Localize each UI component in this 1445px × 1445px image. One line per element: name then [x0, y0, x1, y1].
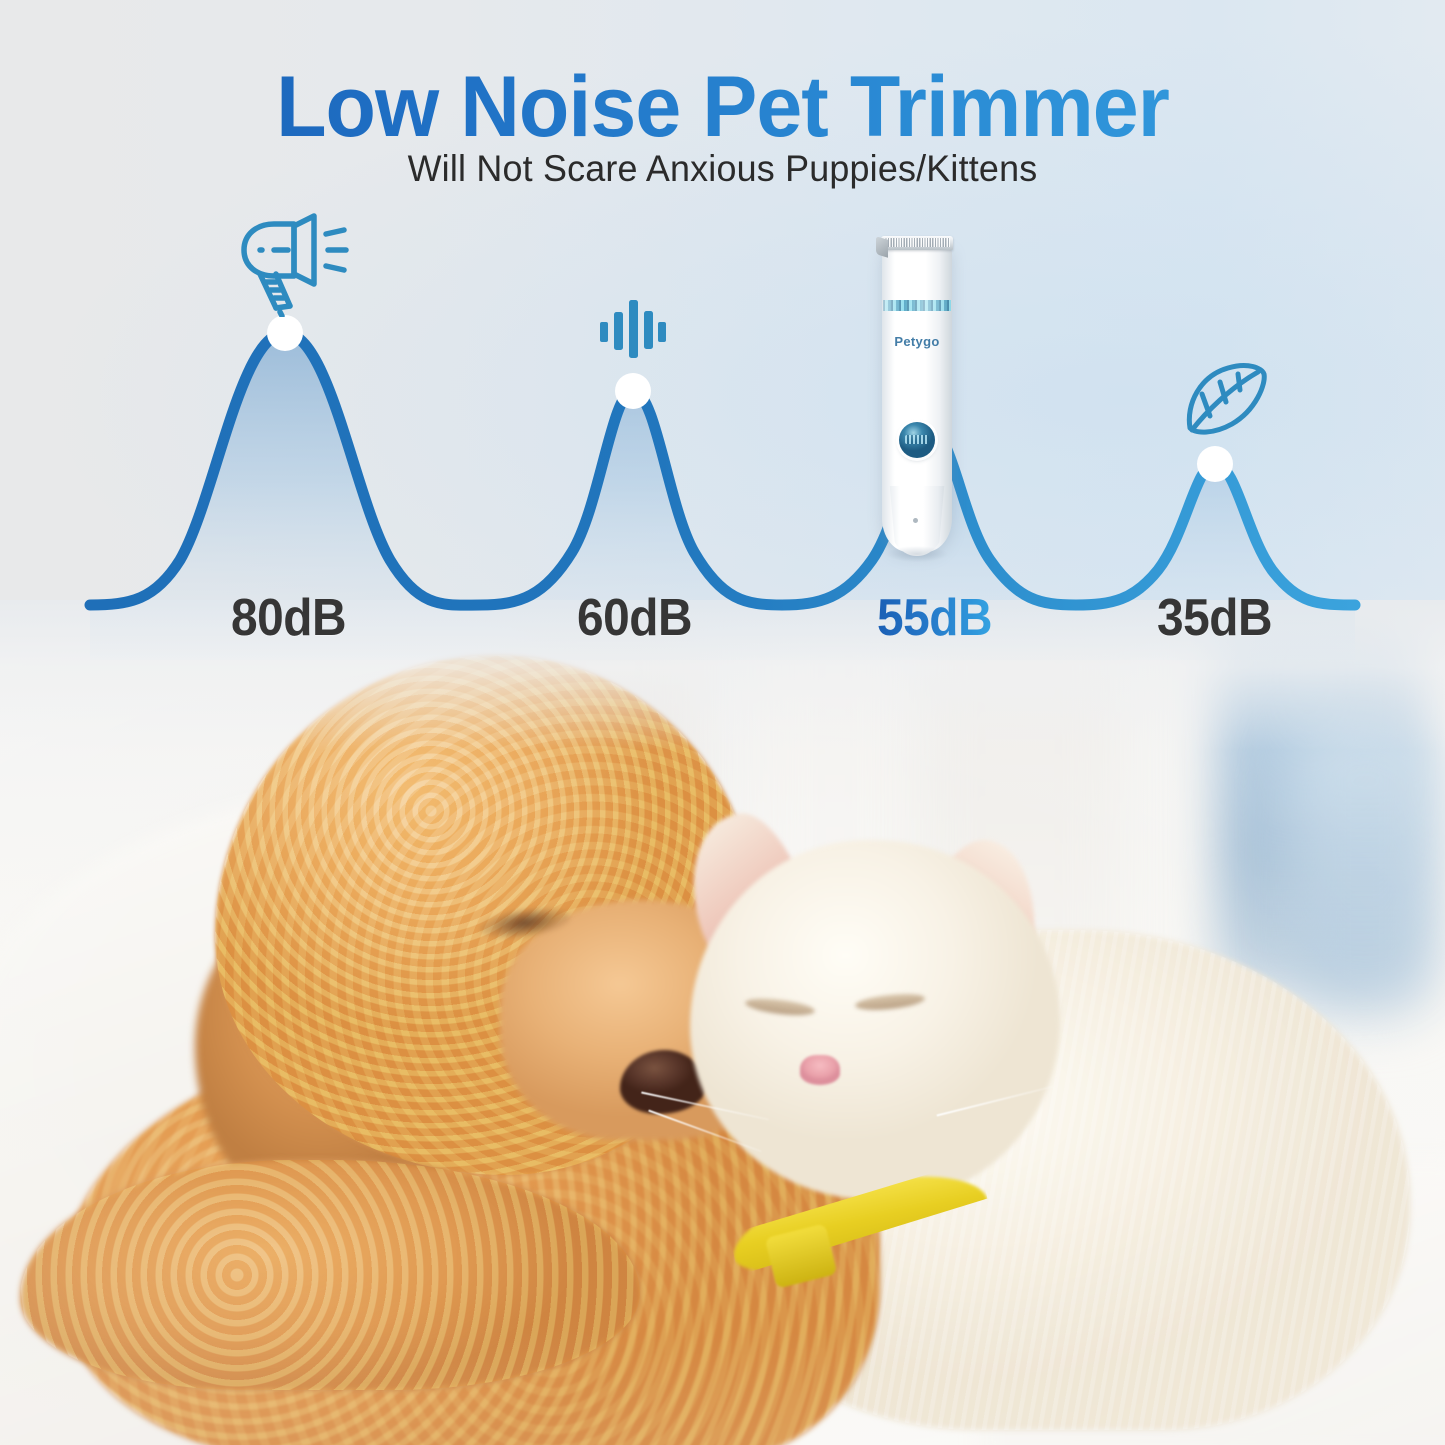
leaf-icon — [1180, 360, 1270, 440]
trimmer-blade-teeth — [884, 238, 950, 247]
pets-photo — [0, 600, 1445, 1445]
pet-trimmer-product: Petygo — [876, 236, 956, 556]
page-subtitle: Will Not Scare Anxious Puppies/Kittens — [22, 148, 1424, 190]
product-brand-label: Petygo — [876, 334, 958, 349]
charge-led-icon — [913, 518, 918, 523]
db-label-80: 80dB — [231, 588, 346, 648]
sound-wave-icon — [598, 298, 668, 360]
trimmer-blade-lever — [876, 236, 888, 257]
peak-marker-dot — [267, 315, 303, 351]
product-infographic: Low Noise Pet Trimmer Will Not Scare Anx… — [0, 0, 1445, 1445]
db-label-60: 60dB — [577, 588, 692, 648]
blue-pillow-secondary — [1290, 720, 1440, 1020]
power-button[interactable] — [899, 422, 935, 458]
power-button-indicator — [905, 435, 929, 444]
trimmer-shadow — [886, 546, 948, 562]
db-label-35: 35dB — [1157, 588, 1272, 648]
hair-dryer-icon — [222, 212, 352, 317]
peak-marker-dot — [1197, 446, 1233, 482]
page-title: Low Noise Pet Trimmer — [29, 58, 1416, 157]
trimmer-band-sheen — [883, 300, 951, 311]
db-label-55: 55dB — [877, 588, 992, 648]
peak-marker-dot — [615, 373, 651, 409]
cat-nose — [800, 1055, 840, 1085]
